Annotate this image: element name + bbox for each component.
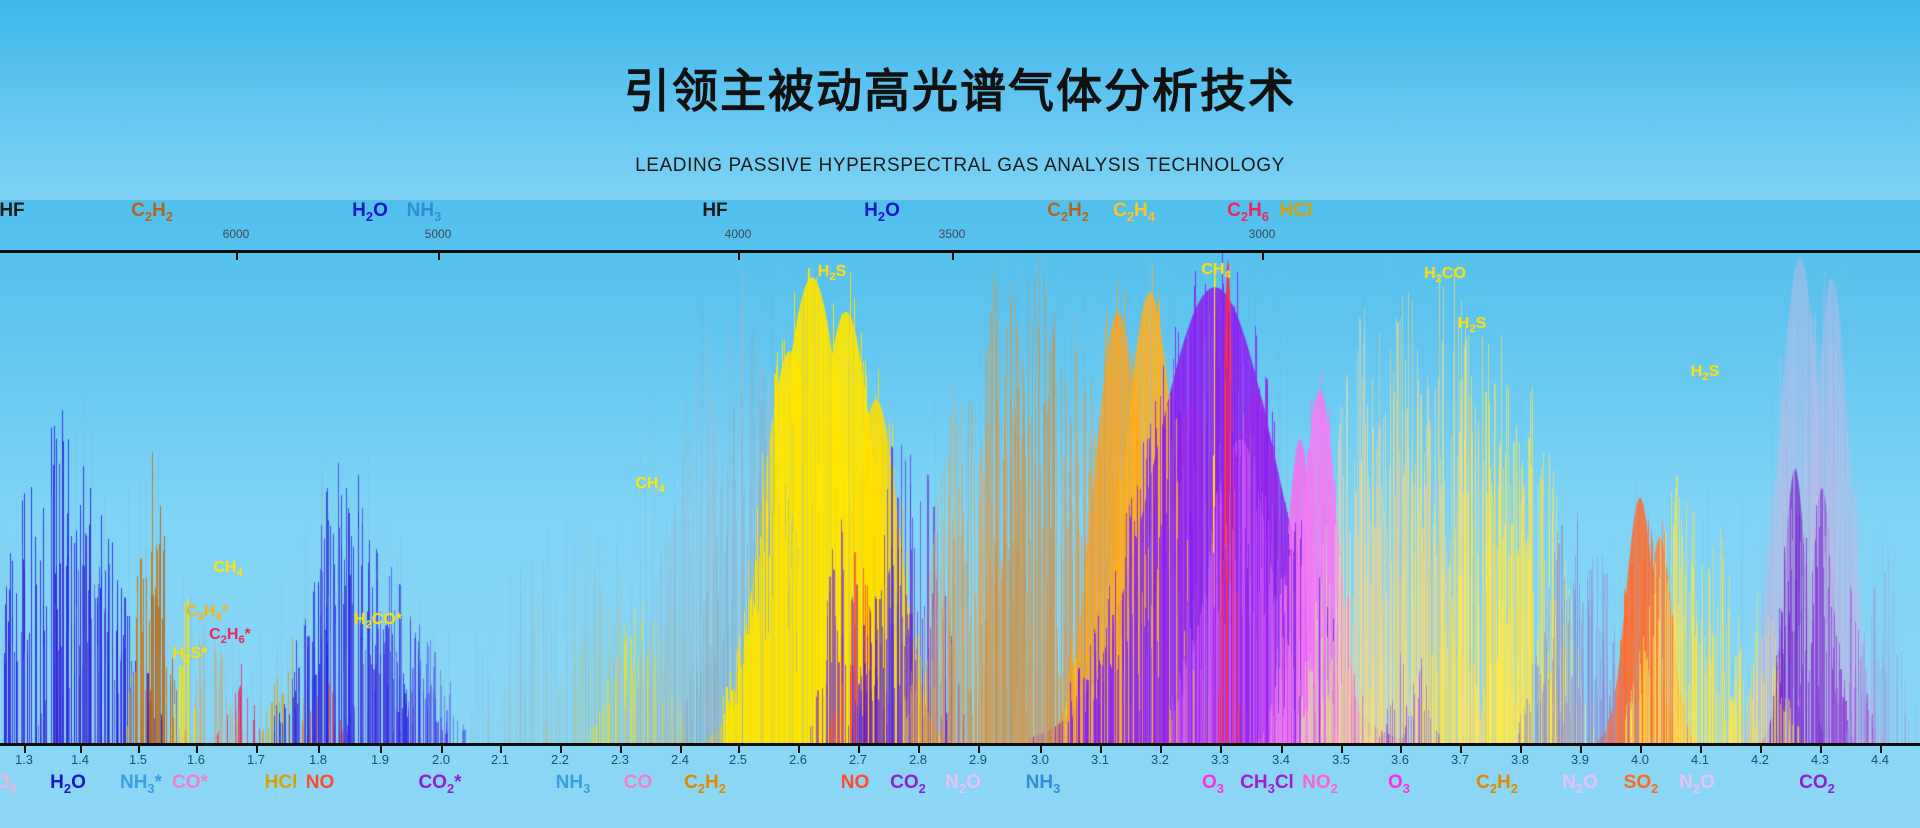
bottom-tick-label: 2.8 (909, 752, 927, 767)
bottom-tick-label: 3.2 (1151, 752, 1169, 767)
top-gas-label: NH3 (407, 200, 442, 224)
top-axis-tick (438, 253, 440, 260)
top-gas-label: H2O (352, 200, 388, 224)
bottom-gas-label: H2O (50, 772, 86, 796)
bottom-gas-label: N2O (1679, 772, 1715, 796)
top-axis-tick (952, 253, 954, 260)
bottom-gas-label: NH3 (556, 772, 591, 796)
bottom-tick-label: 2.5 (729, 752, 747, 767)
bottom-gas-label: CO2 (890, 772, 926, 796)
bottom-tick-label: 2.6 (789, 752, 807, 767)
bottom-tick-label: 3.3 (1211, 752, 1229, 767)
bottom-tick-label: 3.7 (1451, 752, 1469, 767)
bottom-tick-label: 4.1 (1691, 752, 1709, 767)
top-axis-tick (738, 253, 740, 260)
in-plot-gas-label: C2H4* (186, 603, 228, 623)
bottom-gas-label: O3 (1388, 772, 1410, 796)
bottom-gas-label: SO2 (1624, 772, 1659, 796)
spectrum-plot: H2SCH4H2COH2SH2SCH4C2H4*C2H6*H2S*H2CO*CH… (0, 253, 1920, 743)
bottom-tick-label: 3.4 (1272, 752, 1290, 767)
bottom-tick-label: 3.6 (1391, 752, 1409, 767)
bottom-gas-label: NO2 (1302, 772, 1338, 796)
in-plot-gas-label: H2CO (1424, 265, 1466, 285)
bottom-tick-label: 2.3 (611, 752, 629, 767)
top-gas-label: H2O (864, 200, 900, 224)
page-title: 引领主被动高光谱气体分析技术 (0, 55, 1920, 121)
top-tick-label: 3500 (939, 227, 966, 241)
bottom-tick-label: 2.1 (491, 752, 509, 767)
bottom-tick-label: 1.4 (71, 752, 89, 767)
in-plot-gas-label: C2H6* (209, 626, 251, 646)
bottom-gas-label: CO* (172, 772, 208, 794)
bottom-tick-label: 2.7 (849, 752, 867, 767)
bottom-tick-label: 2.9 (969, 752, 987, 767)
top-gas-label: HF (0, 200, 25, 222)
bottom-gas-label: CO (624, 772, 653, 794)
top-axis-tick (1262, 253, 1264, 260)
bottom-gas-label: O3 (1202, 772, 1224, 796)
top-gas-label: C2H4 (1113, 200, 1155, 224)
bottom-gas-label: CO2 (1799, 772, 1835, 796)
top-axis-tick (236, 253, 238, 260)
top-tick-label: 6000 (223, 227, 250, 241)
top-gas-label: C2H2 (1047, 200, 1089, 224)
bottom-gas-label: NO (306, 772, 335, 794)
bottom-gas-label: CO2* (418, 772, 461, 796)
top-gas-label: HCl (1280, 200, 1313, 222)
in-plot-gas-label: H2S* (173, 645, 208, 665)
in-plot-gas-label: H2CO* (354, 611, 402, 631)
top-tick-label: 4000 (725, 227, 752, 241)
bottom-tick-label: 1.6 (187, 752, 205, 767)
in-plot-gas-label: H2S (1691, 363, 1719, 383)
top-tick-label: 5000 (425, 227, 452, 241)
top-gas-label: HF (702, 200, 727, 222)
bottom-tick-label: 4.0 (1631, 752, 1649, 767)
bottom-tick-label: 3.0 (1031, 752, 1049, 767)
bottom-tick-label: 1.8 (309, 752, 327, 767)
top-gas-label: C2H2 (131, 200, 173, 224)
bottom-tick-label: 1.7 (247, 752, 265, 767)
in-plot-gas-label: CH4 (1201, 261, 1230, 281)
bottom-tick-label: 3.1 (1091, 752, 1109, 767)
bottom-gas-label: NH3 (1026, 772, 1061, 796)
bottom-gas-label: NH3* (120, 772, 162, 796)
bottom-tick-label: 1.9 (371, 752, 389, 767)
bottom-axis-line (0, 743, 1920, 746)
in-plot-gas-label: H2S (818, 263, 846, 283)
in-plot-gas-label: CH4 (213, 559, 242, 579)
page-subtitle: LEADING PASSIVE HYPERSPECTRAL GAS ANALYS… (0, 155, 1920, 177)
bottom-gas-label: NO (841, 772, 870, 794)
bottom-tick-label: 2.2 (551, 752, 569, 767)
top-gas-label: C2H6 (1227, 200, 1269, 224)
in-plot-gas-label: CH4 (635, 475, 664, 495)
top-wavenumber-axis: HFC2H2H2ONH3HFH2OC2H2C2H4C2H6HCl60005000… (0, 200, 1920, 252)
bottom-tick-label: 2.0 (432, 752, 450, 767)
bottom-gas-label: N2O (1562, 772, 1598, 796)
bottom-tick-label: 4.2 (1751, 752, 1769, 767)
bottom-tick-label: 3.5 (1332, 752, 1350, 767)
in-plot-gas-label: H2S (1458, 315, 1486, 335)
header-banner: 引领主被动高光谱气体分析技术 LEADING PASSIVE HYPERSPEC… (0, 0, 1920, 200)
bottom-tick-label: 1.3 (15, 752, 33, 767)
bottom-gas-label: O2 (0, 772, 17, 796)
bottom-tick-label: 3.8 (1511, 752, 1529, 767)
bottom-tick-label: 3.9 (1571, 752, 1589, 767)
spectrum-canvas (0, 253, 1920, 743)
bottom-tick-label: 4.4 (1871, 752, 1889, 767)
bottom-gas-label: N2O (945, 772, 981, 796)
bottom-gas-label: CH3Cl (1240, 772, 1294, 796)
bottom-tick-label: 4.3 (1811, 752, 1829, 767)
top-tick-label: 3000 (1249, 227, 1276, 241)
bottom-gas-label: C2H2 (1476, 772, 1518, 796)
bottom-gas-label: C2H2 (684, 772, 726, 796)
bottom-tick-label: 1.5 (129, 752, 147, 767)
bottom-gas-label: HCl (265, 772, 298, 794)
bottom-tick-label: 2.4 (671, 752, 689, 767)
